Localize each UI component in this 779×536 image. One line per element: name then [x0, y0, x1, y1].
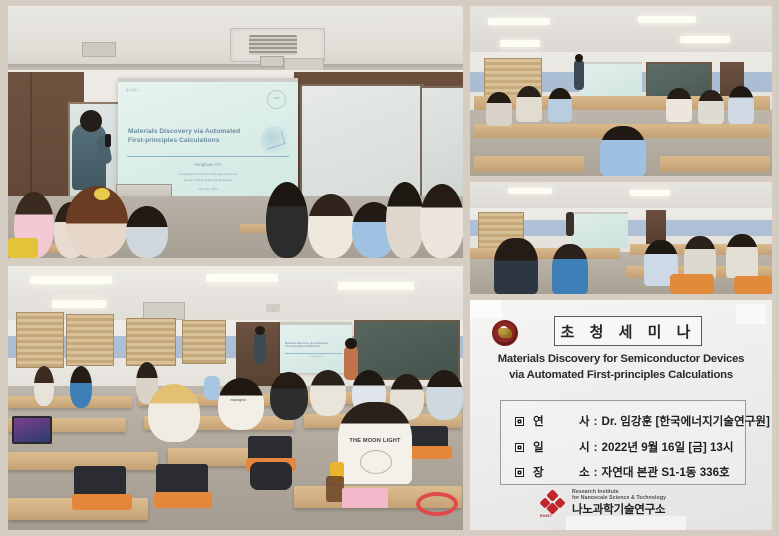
chair-seat-orange — [154, 492, 212, 508]
slide-brand-logo: 충남대학교 — [126, 89, 139, 92]
ceiling-lamp-icon — [52, 300, 106, 308]
slide-emblem-icon: KIER — [267, 90, 286, 109]
poster-glare — [566, 516, 686, 530]
audience-person — [70, 366, 92, 408]
audience-person — [310, 370, 346, 416]
poster-info-key: 장 — [533, 464, 579, 480]
slide-divider — [127, 156, 289, 157]
university-emblem-icon — [492, 320, 518, 346]
audience-person — [516, 86, 542, 122]
bullet-icon — [515, 417, 524, 426]
audience-close-photo — [470, 182, 772, 294]
desk-row — [474, 156, 584, 172]
hair-scrunchie — [94, 188, 110, 200]
audience-person — [548, 88, 572, 122]
window-blind — [16, 312, 64, 368]
speaker-figure — [574, 60, 584, 90]
speaker-head — [255, 326, 265, 335]
lecture-front-photo: 충남대학교 KIER Materials Discovery via Autom… — [8, 6, 463, 258]
audience-person — [420, 184, 463, 258]
host-head — [345, 338, 357, 349]
ceiling-lamp-icon — [500, 40, 540, 47]
slide-author-small: Kanghoon Yim — [280, 356, 352, 359]
tshirt-graphic — [360, 450, 392, 474]
poster-tape — [470, 300, 502, 318]
audience-person — [218, 378, 264, 430]
window-blind — [126, 318, 176, 366]
audience-person — [270, 372, 308, 420]
photo-collage: 충남대학교 KIER Materials Discovery via Autom… — [0, 0, 779, 536]
ceiling-lamp-icon — [630, 190, 670, 196]
audience-person — [34, 366, 54, 406]
audience-person — [666, 88, 692, 122]
audience-person-blonde — [148, 384, 200, 442]
poster-tape — [736, 304, 766, 324]
poster-info-row: 연 사 : Dr. 임강훈 [한국에너지기술연구원] — [515, 413, 770, 429]
ceiling-lamp-icon — [206, 274, 278, 282]
ceiling-vent-icon — [82, 42, 116, 57]
chair-orange — [734, 276, 772, 294]
audience-person — [386, 182, 424, 258]
audience-person — [600, 126, 646, 176]
audience-person — [552, 244, 588, 294]
ceiling — [470, 6, 772, 56]
bullet-icon — [515, 468, 524, 477]
poster-info-row: 일 시 : 2022년 9월 16일 [금] 13시 — [515, 439, 734, 455]
speaker-figure — [566, 212, 574, 236]
poster-info-value: Dr. 임강훈 [한국에너지기술연구원] — [602, 413, 770, 429]
ceiling-lamp-icon — [338, 282, 414, 290]
slide-affiliation-2: Korea Institute of Energy Research — [118, 178, 298, 183]
microphone-icon — [105, 134, 111, 147]
poster-title: Materials Discovery for Semiconductor De… — [492, 352, 750, 383]
poster-info-key: 연 — [533, 413, 579, 429]
speaker-figure — [254, 332, 266, 364]
chair-seat-orange — [72, 494, 132, 510]
projector-lens-icon — [260, 56, 284, 67]
audience-person — [494, 238, 538, 294]
pink-notebook — [342, 488, 388, 508]
speaker-head — [575, 54, 583, 62]
desk-row — [660, 156, 770, 172]
audience-person — [308, 194, 354, 258]
ceiling-lamp-icon — [680, 36, 730, 43]
poster-header-text: 초 청 세 미 나 — [561, 321, 696, 342]
audience-person — [728, 86, 754, 124]
host-figure — [344, 346, 358, 380]
window-blind — [66, 314, 114, 366]
window-blind — [182, 320, 226, 364]
ceiling-lamp-icon — [30, 276, 112, 284]
lecture-front-scene: 충남대학교 KIER Materials Discovery via Autom… — [8, 6, 463, 258]
desk-row — [470, 248, 620, 259]
poster-info-label: 소 — [579, 464, 590, 480]
institute-ko: 나노과학기술연구소 — [572, 502, 666, 516]
chair-orange — [670, 274, 714, 294]
poster-info-box: 연 사 : Dr. 임강훈 [한국에너지기술연구원] 일 시 : 2022년 9… — [500, 400, 746, 485]
ceiling — [470, 182, 772, 210]
projection-screen — [572, 212, 628, 248]
audience-person — [426, 370, 463, 420]
audience-person — [266, 182, 308, 258]
seminar-poster-photo: 초 청 세 미 나 Materials Discovery for Semico… — [470, 300, 772, 530]
poster-header-box: 초 청 세 미 나 — [554, 316, 702, 346]
backpack — [250, 462, 292, 490]
slide-title-small: Materials Discovery via Automated First-… — [285, 342, 335, 349]
poster-info-value: 자연대 본관 S1-1동 336호 — [602, 464, 730, 480]
tshirt-text-makegrid: makegrid — [220, 398, 256, 402]
ceiling-lamp-icon — [488, 18, 550, 25]
chair-yellow — [8, 238, 38, 258]
poster-info-label: 사 — [579, 413, 590, 429]
ceiling-lamp-icon — [508, 188, 552, 194]
tshirt-text-moon-light: THE MOON LIGHT — [340, 438, 410, 444]
slide-author: Kanghoon Yim — [118, 162, 298, 167]
slide-affiliation-1: Computational Science & Engineering Lab. — [118, 172, 298, 177]
classroom-wide-scene: Materials Discovery via Automated First-… — [8, 266, 463, 530]
institute-logo: RINST Research Institute for Nanoscale S… — [540, 489, 666, 516]
audience-person — [726, 234, 758, 278]
institute-en-line-2: for Nanoscale Science & Technology — [572, 495, 666, 502]
bullet-icon — [515, 443, 524, 452]
projector-lens-icon — [266, 304, 280, 312]
poster-info-key: 일 — [533, 439, 579, 455]
slide-divider-small — [285, 353, 343, 354]
projection-screen: Materials Discovery via Automated First-… — [280, 322, 352, 373]
rinst-mark-icon: RINST — [540, 489, 566, 515]
rinst-mark-label: RINST — [540, 514, 552, 518]
audience-wide-scene — [470, 6, 772, 176]
poster-info-row: 장 소 : 자연대 본관 S1-1동 336호 — [515, 464, 730, 480]
whiteboard-right-2 — [420, 86, 463, 198]
ceiling-lamp-icon — [638, 16, 696, 23]
audience-person — [486, 92, 512, 126]
poster-info-value: 2022년 9월 16일 [금] 13시 — [602, 439, 734, 455]
audience-wide-photo — [470, 6, 772, 176]
red-tape-roll — [416, 492, 458, 516]
classroom-wide-photo: Materials Discovery via Automated First-… — [8, 266, 463, 530]
seminar-poster: 초 청 세 미 나 Materials Discovery for Semico… — [470, 300, 772, 530]
audience-close-scene — [470, 182, 772, 294]
slide-title: Materials Discovery via Automated First-… — [128, 128, 258, 146]
audience-person — [204, 376, 220, 400]
institute-text: Research Institute for Nanoscale Science… — [572, 489, 666, 516]
audience-person — [126, 206, 168, 258]
poster-info-label: 시 — [579, 439, 590, 455]
projection-screen: 충남대학교 KIER Materials Discovery via Autom… — [118, 78, 298, 200]
speaker-head — [80, 110, 102, 132]
audience-person — [698, 90, 724, 124]
laptop — [12, 416, 52, 444]
